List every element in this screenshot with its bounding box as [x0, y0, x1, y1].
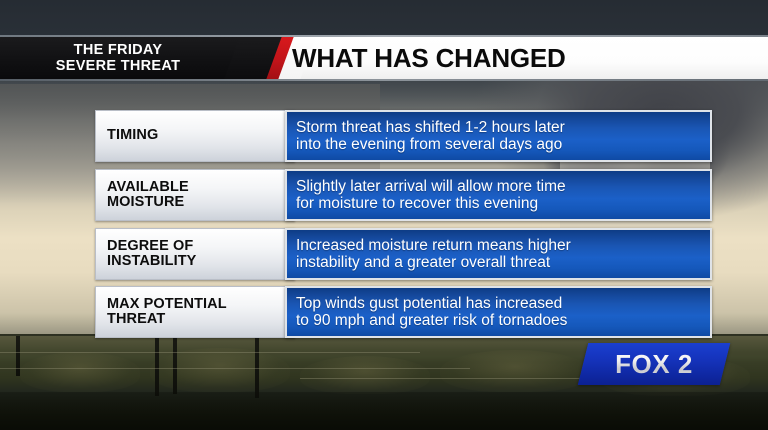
row-value: Slightly later arrival will allow more t… [285, 169, 712, 221]
row-label: TIMING [95, 110, 295, 162]
row-value-line-1: Storm threat has shifted 1-2 hours later [296, 119, 710, 137]
row-value-line-2: instability and a greater overall threat [296, 254, 710, 272]
row-label-line-1: DEGREE OF [107, 239, 295, 255]
row-label: AVAILABLE MOISTURE [95, 169, 295, 221]
row-value-line-2: for moisture to recover this evening [296, 195, 710, 213]
row-value-line-1: Top winds gust potential has increased [296, 295, 710, 313]
row-label-line-1: AVAILABLE [107, 180, 295, 196]
row-label: MAX POTENTIAL THREAT [95, 286, 295, 338]
row-value-line-2: to 90 mph and greater risk of tornadoes [296, 312, 710, 330]
row-label-line-1: MAX POTENTIAL [107, 297, 295, 313]
table-row: DEGREE OF INSTABILITY Increased moisture… [95, 228, 712, 280]
row-label-line-2: INSTABILITY [107, 254, 295, 270]
table-row: AVAILABLE MOISTURE Slightly later arriva… [95, 169, 712, 221]
row-label: DEGREE OF INSTABILITY [95, 228, 295, 280]
row-value-line-2: into the evening from several days ago [296, 136, 710, 154]
row-label-line-2: MOISTURE [107, 195, 295, 211]
row-label-line-2: THREAT [107, 312, 295, 328]
row-label-line-1: TIMING [107, 128, 295, 144]
row-value: Top winds gust potential has increased t… [285, 286, 712, 338]
row-value-line-1: Slightly later arrival will allow more t… [296, 178, 710, 196]
table-row: MAX POTENTIAL THREAT Top winds gust pote… [95, 286, 712, 338]
station-logo: FOX 2 [583, 343, 725, 385]
row-value-line-1: Increased moisture return means higher [296, 237, 710, 255]
table-row: TIMING Storm threat has shifted 1-2 hour… [95, 110, 712, 162]
broadcast-graphic: THE FRIDAY SEVERE THREAT WHAT HAS CHANGE… [0, 0, 768, 430]
row-value: Increased moisture return means higher i… [285, 228, 712, 280]
row-value: Storm threat has shifted 1-2 hours later… [285, 110, 712, 162]
